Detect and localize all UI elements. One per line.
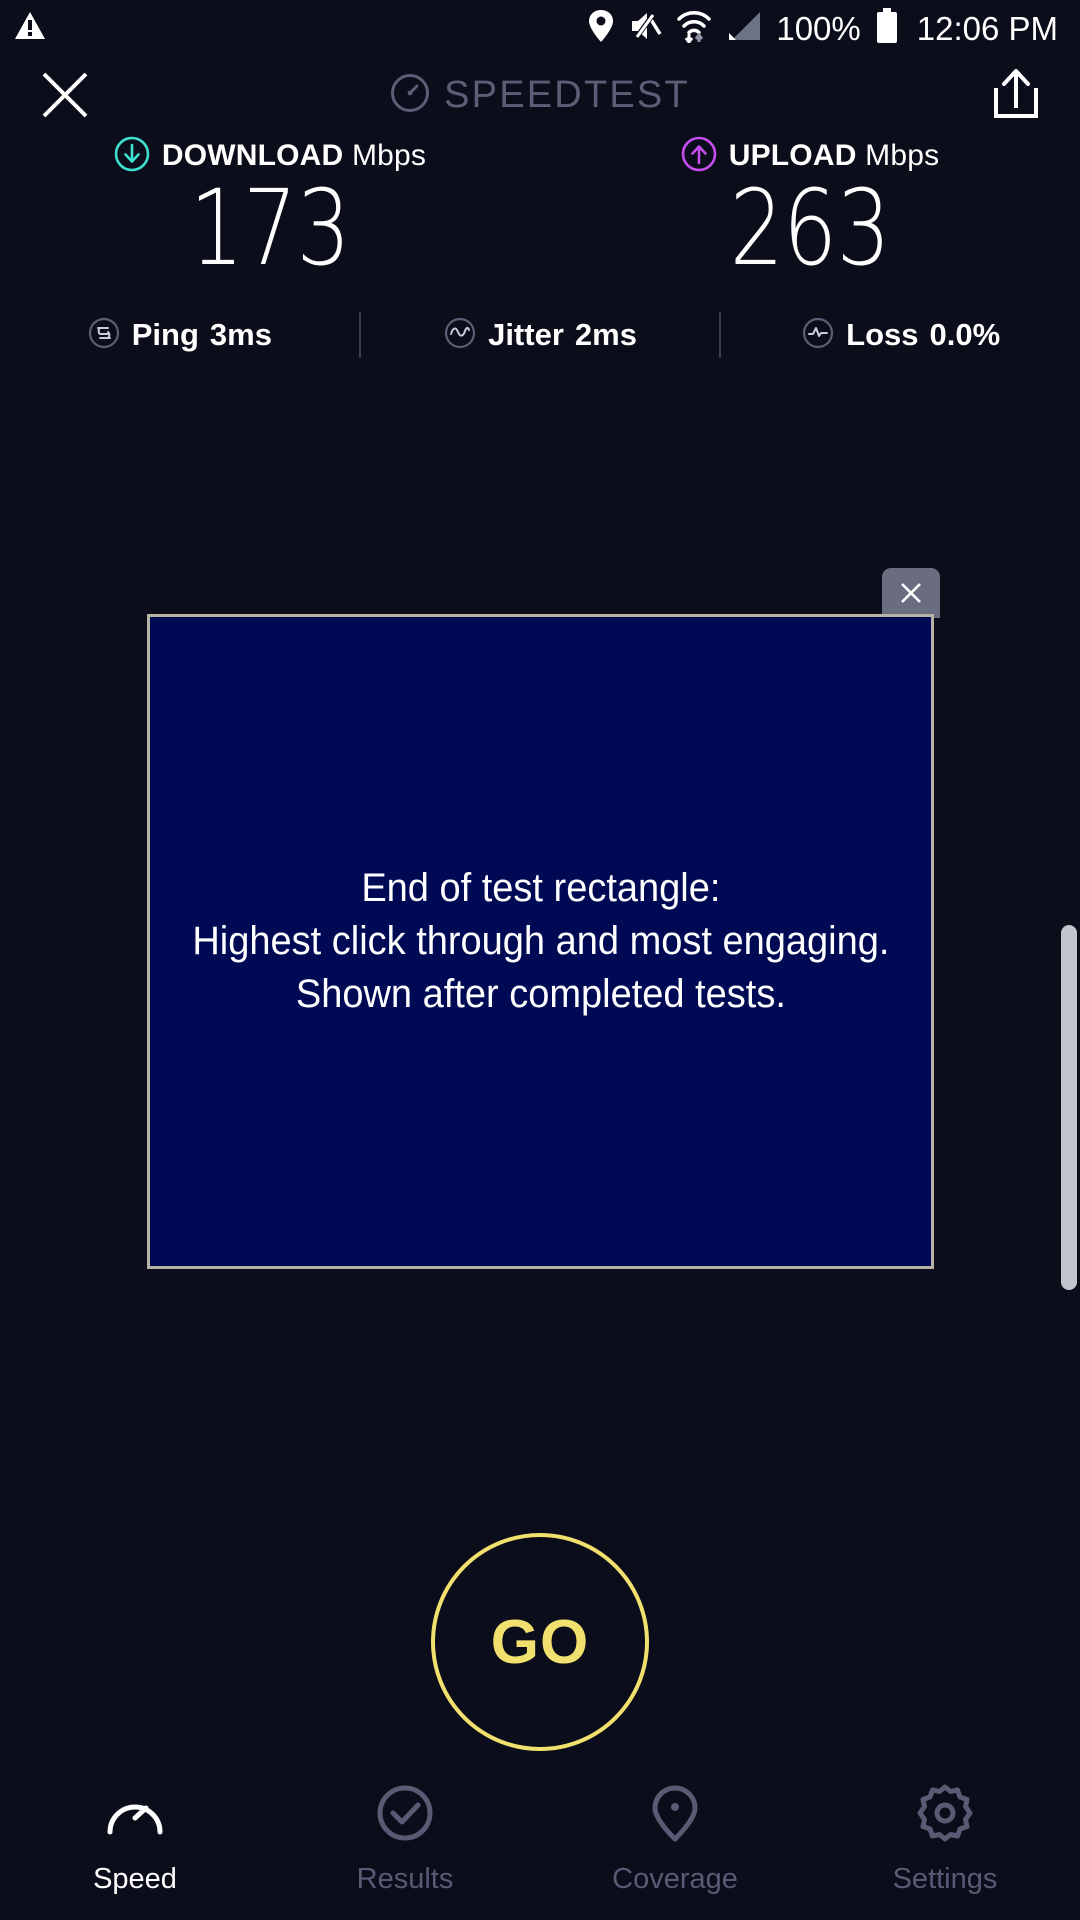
speeds-row: DOWNLOAD Mbps 173 UPLOAD: [0, 134, 1080, 283]
nav-label-speed: Speed: [93, 1863, 177, 1896]
cellular-signal-icon: [726, 10, 762, 47]
vertical-scrollbar[interactable]: [1061, 925, 1077, 1290]
download-result: DOWNLOAD Mbps 173: [0, 134, 540, 283]
upload-arrow-icon: [681, 136, 717, 177]
go-button[interactable]: GO: [431, 1533, 649, 1751]
ping-icon: [87, 316, 121, 355]
metric-ping: Ping 3ms: [0, 316, 359, 355]
ad-text: End of test rectangle: Highest click thr…: [186, 862, 894, 1020]
ping-value: 3ms: [210, 317, 272, 353]
app-header: SPEEDTEST: [0, 56, 1080, 134]
ad-banner[interactable]: End of test rectangle: Highest click thr…: [147, 614, 934, 1269]
jitter-value: 2ms: [575, 317, 637, 353]
loss-icon: [801, 316, 835, 355]
upload-value: 263: [730, 174, 890, 283]
speedometer-icon: [104, 1784, 166, 1847]
nav-item-settings[interactable]: Settings: [810, 1784, 1080, 1896]
nav-label-results: Results: [357, 1863, 454, 1896]
share-icon[interactable]: [988, 66, 1044, 124]
ping-label: Ping: [132, 317, 199, 353]
app-title-group: SPEEDTEST: [0, 56, 1080, 134]
nav-item-coverage[interactable]: Coverage: [540, 1784, 810, 1896]
check-circle-icon: [374, 1784, 436, 1847]
nav-label-coverage: Coverage: [612, 1863, 738, 1896]
battery-full-icon: [875, 8, 899, 49]
status-bar-left-icons: [14, 11, 46, 46]
nav-label-settings: Settings: [893, 1863, 998, 1896]
metrics-row: Ping 3ms Jitter 2ms Loss 0.0: [0, 308, 1080, 362]
nav-item-speed[interactable]: Speed: [0, 1784, 270, 1896]
jitter-icon: [443, 316, 477, 355]
download-arrow-icon: [114, 136, 150, 177]
speedometer-icon: [390, 73, 430, 118]
loss-label: Loss: [846, 317, 918, 353]
ad-close-button[interactable]: [882, 568, 940, 618]
volume-muted-icon: [628, 10, 662, 47]
gear-icon: [914, 1784, 976, 1847]
nav-item-results[interactable]: Results: [270, 1784, 540, 1896]
speed-results-panel: DOWNLOAD Mbps 173 UPLOAD: [0, 134, 1080, 283]
bottom-navigation-bar: Speed Results Coverage: [0, 1768, 1080, 1920]
metric-loss: Loss 0.0%: [721, 316, 1080, 355]
location-pin-icon: [588, 9, 614, 48]
upload-result: UPLOAD Mbps 263: [540, 134, 1080, 283]
warning-triangle-icon: [14, 11, 46, 46]
android-status-bar: 100% 12:06 PM: [0, 0, 1080, 56]
jitter-label: Jitter: [488, 317, 564, 353]
metric-jitter: Jitter 2ms: [361, 316, 720, 355]
advertisement-container: End of test rectangle: Highest click thr…: [147, 614, 934, 1269]
download-label-unit: Mbps: [352, 139, 426, 172]
speedtest-app-screen: 100% 12:06 PM S: [0, 0, 1080, 1920]
go-button-label: GO: [491, 1607, 589, 1678]
status-bar-clock: 12:06 PM: [917, 12, 1058, 45]
loss-value: 0.0%: [930, 317, 1001, 353]
battery-percent-label: 100%: [776, 12, 860, 45]
wifi-transfer-icon: [676, 9, 712, 48]
status-bar-right-icons: 100% 12:06 PM: [588, 8, 1058, 49]
map-pin-icon: [644, 1784, 706, 1847]
page-title: SPEEDTEST: [444, 74, 690, 117]
download-value: 173: [190, 174, 350, 283]
